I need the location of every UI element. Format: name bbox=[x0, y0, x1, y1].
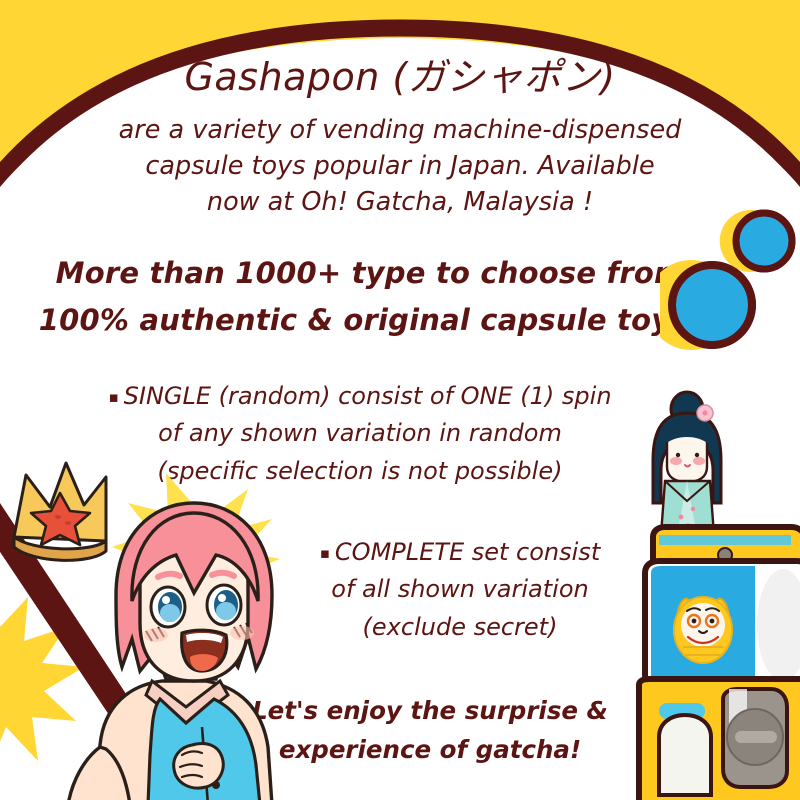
bullet-icon: ▪ bbox=[108, 388, 118, 406]
intro-line: now at Oh! Gatcha, Malaysia ! bbox=[70, 184, 730, 220]
flower-ornament-icon bbox=[697, 405, 713, 421]
intro-line: capsule toys popular in Japan. Available bbox=[70, 148, 730, 184]
single-option-line-2: of any shown variation in random bbox=[55, 415, 665, 452]
capsule-toy-icon-small bbox=[720, 210, 792, 272]
crown-icon bbox=[14, 463, 106, 560]
machine-lid-stripe bbox=[659, 535, 791, 545]
kokeshi-doll-illustration bbox=[653, 392, 721, 535]
single-option-line-1: ▪SINGLE (random) consist of ONE (1) spin bbox=[55, 378, 665, 415]
intro-line: are a variety of vending machine-dispens… bbox=[70, 112, 730, 148]
machine-crank-slot bbox=[735, 731, 777, 743]
gachapon-machine-illustration bbox=[615, 385, 800, 800]
poster-canvas: Gashapon (ガシャポン) are a variety of vendin… bbox=[0, 0, 800, 800]
single-option-text: SINGLE (random) consist of ONE (1) spin bbox=[124, 382, 612, 410]
bullet-icon: ▪ bbox=[320, 544, 330, 562]
headline-line: More than 1000+ type to choose from bbox=[20, 250, 720, 297]
capsule-toys-group bbox=[660, 205, 800, 355]
complete-option-text: COMPLETE set consist bbox=[335, 538, 600, 566]
page-title: Gashapon (ガシャポン) bbox=[0, 57, 800, 99]
machine-dispenser-door[interactable] bbox=[659, 715, 711, 795]
capsule-toy-icon-large bbox=[660, 260, 752, 350]
headline-block: More than 1000+ type to choose from 100%… bbox=[20, 250, 720, 344]
intro-paragraph: are a variety of vending machine-dispens… bbox=[70, 112, 730, 221]
headline-line: 100% authentic & original capsule toys! bbox=[20, 297, 720, 344]
girl-mouth bbox=[182, 630, 227, 671]
anime-girl-illustration bbox=[0, 455, 320, 800]
daruma-capsule-icon bbox=[674, 597, 732, 663]
